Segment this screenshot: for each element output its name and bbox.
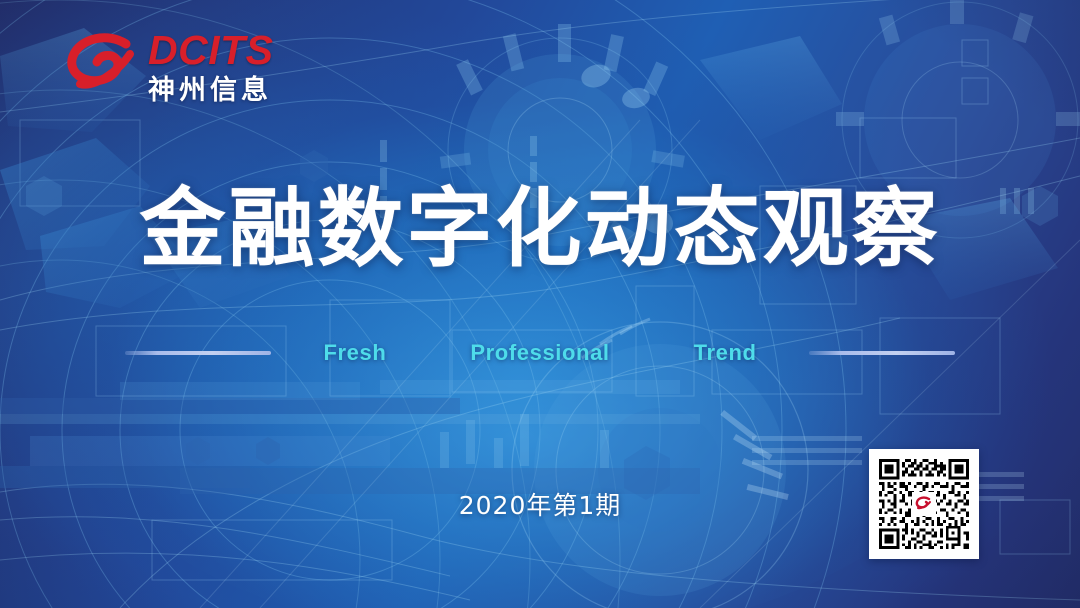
- logo-name-en: DCITS: [148, 30, 274, 71]
- logo-wordmark: DCITS 神州信息: [148, 26, 274, 104]
- tagline-row: Fresh Professional Trend: [0, 340, 1080, 366]
- poster-canvas: DCITS 神州信息 金融数字化动态观察 Fresh Professional …: [0, 0, 1080, 608]
- qr-center-logo-icon: [912, 492, 936, 516]
- page-title: 金融数字化动态观察: [0, 186, 1080, 272]
- tagline-rule-right: [809, 351, 955, 355]
- tagline-professional: Professional: [470, 340, 609, 366]
- tagline-rule-left: [125, 351, 271, 355]
- qr-code[interactable]: [869, 449, 979, 559]
- swirl-mark-icon: [64, 28, 140, 102]
- dcits-logo: DCITS 神州信息: [64, 26, 274, 104]
- logo-name-cn: 神州信息: [148, 77, 274, 104]
- tagline-trend: Trend: [694, 340, 757, 366]
- tagline-fresh: Fresh: [323, 340, 386, 366]
